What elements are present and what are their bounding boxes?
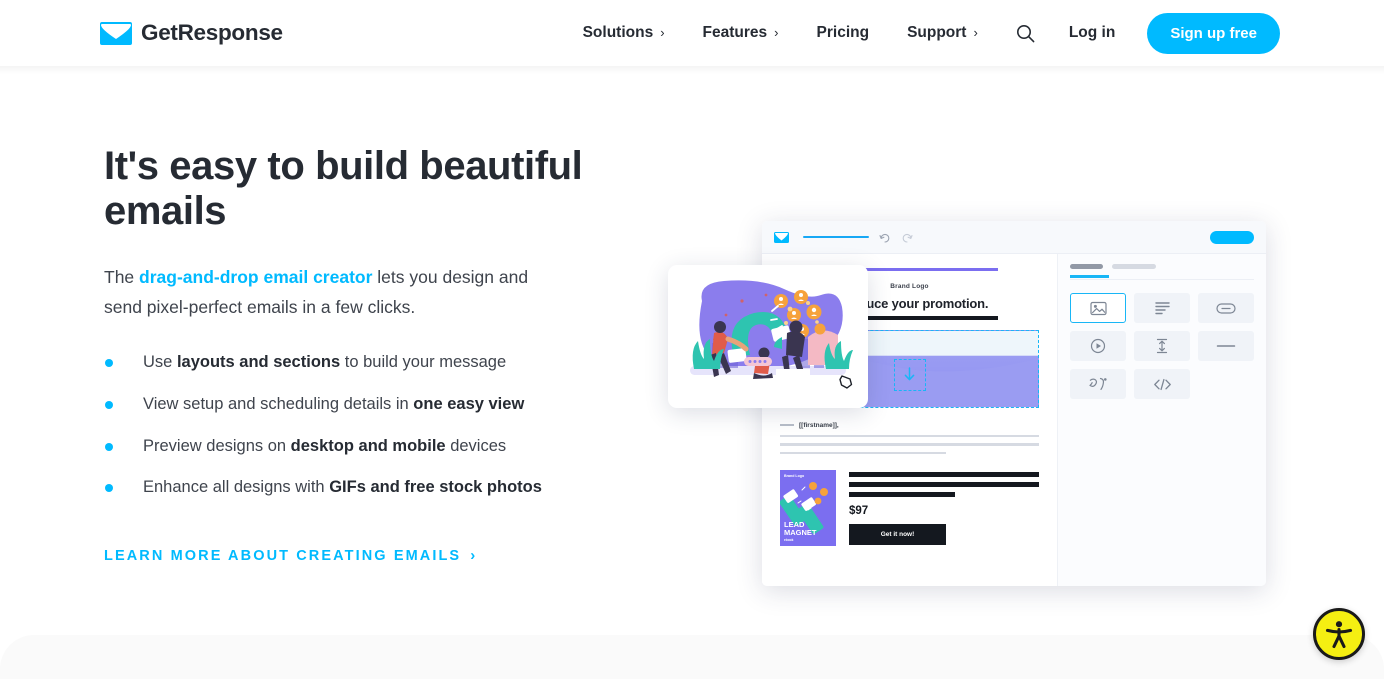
envelope-icon xyxy=(774,232,789,243)
personalization-tag: [[firstname]], xyxy=(799,422,839,429)
envelope-icon xyxy=(100,22,132,45)
list-item-text-bold: one easy view xyxy=(413,395,524,413)
nav-item-support[interactable]: Support › xyxy=(907,16,978,50)
list-item-text-after: devices xyxy=(446,437,507,455)
signup-free-button[interactable]: Sign up free xyxy=(1147,13,1280,54)
chevron-right-icon: › xyxy=(660,26,664,39)
progress-bar xyxy=(803,236,869,239)
product-image-sub: ebook xyxy=(784,538,793,542)
nav-item-features[interactable]: Features › xyxy=(703,16,779,50)
builder-sidebar xyxy=(1058,254,1266,586)
page-title: It's easy to build beautiful emails xyxy=(104,144,624,234)
text-placeholder-dash xyxy=(780,424,794,426)
brand-logo[interactable]: GetResponse xyxy=(100,20,283,46)
main-navigation: Solutions › Features › Pricing Support › xyxy=(583,13,1280,54)
tool-text-icon[interactable] xyxy=(1134,293,1190,323)
nav-item-solutions[interactable]: Solutions › xyxy=(583,16,665,50)
block-tool-palette xyxy=(1070,293,1254,399)
login-link[interactable]: Log in xyxy=(1069,24,1116,42)
list-item: Enhance all designs with GIFs and free s… xyxy=(104,475,624,500)
tool-image-icon[interactable] xyxy=(1070,293,1126,323)
tool-code-icon[interactable] xyxy=(1134,369,1190,399)
hero-description-before: The xyxy=(104,267,139,287)
product-image-title: LEAD MAGNET xyxy=(784,521,836,537)
product-text-line xyxy=(849,472,1039,477)
product-details: $97 Get it now! xyxy=(849,470,1039,546)
tool-spacer-icon[interactable] xyxy=(1134,331,1190,361)
product-image-tag: Brand Logo xyxy=(784,474,804,478)
brand-name: GetResponse xyxy=(141,20,283,46)
list-item-text-bold: GIFs and free stock photos xyxy=(329,478,542,496)
tool-button-icon[interactable] xyxy=(1198,293,1254,323)
accessibility-icon[interactable] xyxy=(1313,608,1365,660)
list-item-text-before: Use xyxy=(143,353,177,371)
list-item-text-bold: layouts and sections xyxy=(177,353,340,371)
list-item: View setup and scheduling details in one… xyxy=(104,392,624,417)
redo-icon[interactable] xyxy=(901,231,913,243)
hero-copy: It's easy to build beautiful emails The … xyxy=(104,144,624,565)
hero-description: The drag-and-drop email creator lets you… xyxy=(104,263,564,322)
product-text-line xyxy=(849,492,955,497)
download-arrow-icon xyxy=(894,359,926,391)
tab-content[interactable] xyxy=(1070,264,1103,269)
tool-social-icon[interactable] xyxy=(1070,369,1126,399)
product-text-line xyxy=(849,482,1039,487)
tab-design[interactable] xyxy=(1112,264,1156,269)
list-item: Preview designs on desktop and mobile de… xyxy=(104,434,624,459)
list-item-text-before: Enhance all designs with xyxy=(143,478,329,496)
product-cta-button[interactable]: Get it now! xyxy=(849,524,946,545)
text-placeholder-line xyxy=(780,435,1039,438)
nav-item-solutions-label: Solutions xyxy=(583,24,654,42)
save-pill-button[interactable] xyxy=(1210,231,1254,244)
learn-more-link[interactable]: Learn more about creating emails › xyxy=(104,547,475,564)
email-creator-link[interactable]: drag-and-drop email creator xyxy=(139,267,372,287)
personalization-row: [[firstname]], xyxy=(780,422,1039,429)
text-placeholder-line xyxy=(780,452,946,455)
sidebar-tabs xyxy=(1070,264,1254,269)
tabs-divider xyxy=(1070,279,1254,280)
text-placeholder-line xyxy=(780,443,1039,446)
nav-item-pricing-label: Pricing xyxy=(817,24,870,42)
product-block: Brand Logo LEAD MAGNET ebook $97 Get it … xyxy=(780,470,1039,546)
email-creator-illustration: Brand Logo Introduce your promotion. xyxy=(668,211,1278,586)
site-header: GetResponse Solutions › Features › Prici… xyxy=(0,0,1384,66)
page-root: GetResponse Solutions › Features › Prici… xyxy=(0,0,1384,679)
tool-divider-icon[interactable] xyxy=(1198,331,1254,361)
builder-toolbar xyxy=(762,221,1266,254)
list-item-text-bold: desktop and mobile xyxy=(291,437,446,455)
search-icon[interactable] xyxy=(1016,24,1035,43)
nav-item-support-label: Support xyxy=(907,24,966,42)
product-price: $97 xyxy=(849,505,1039,517)
undo-icon[interactable] xyxy=(879,231,891,243)
list-item-text-after: to build your message xyxy=(340,353,506,371)
nav-item-pricing[interactable]: Pricing xyxy=(817,16,870,50)
tool-video-icon[interactable] xyxy=(1070,331,1126,361)
hero-section: It's easy to build beautiful emails The … xyxy=(0,66,1384,565)
learn-more-label: Learn more about creating emails xyxy=(104,548,461,564)
hero-feature-list: Use layouts and sections to build your m… xyxy=(104,350,624,500)
list-item-text-before: View setup and scheduling details in xyxy=(143,395,413,413)
list-item-text-before: Preview designs on xyxy=(143,437,291,455)
list-item: Use layouts and sections to build your m… xyxy=(104,350,624,375)
section-bottom-edge xyxy=(0,635,1384,679)
chevron-right-icon: › xyxy=(774,26,778,39)
chevron-right-icon: › xyxy=(470,547,475,564)
chevron-right-icon: › xyxy=(973,26,977,39)
product-image: Brand Logo LEAD MAGNET ebook xyxy=(780,470,836,546)
cursor-icon xyxy=(838,374,854,395)
nav-item-features-label: Features xyxy=(703,24,768,42)
